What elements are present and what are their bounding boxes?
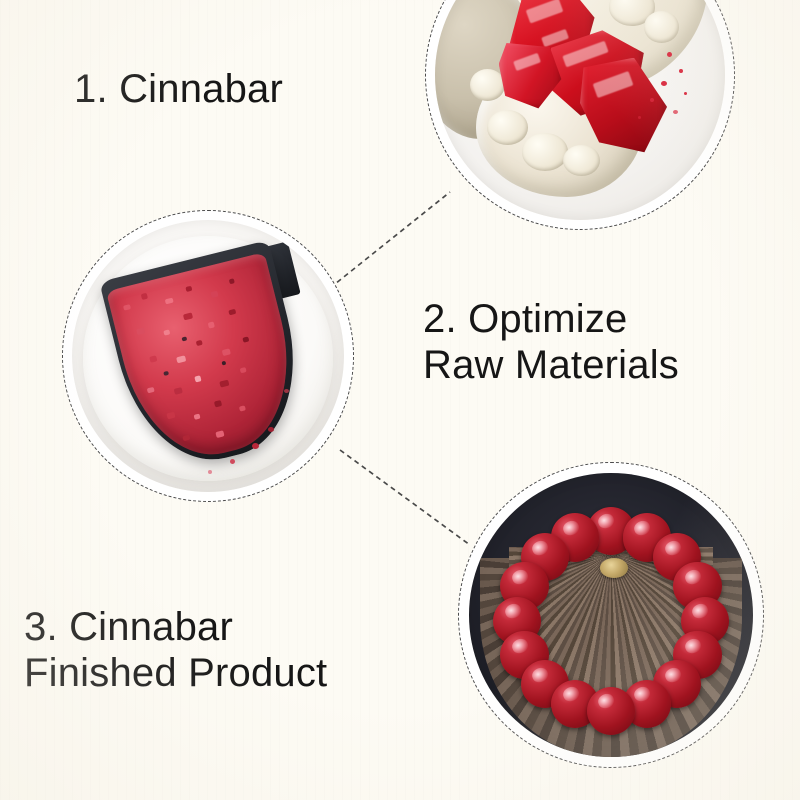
step-2-label: 2. Optimize Raw Materials xyxy=(423,296,679,389)
cinnabar-powder-scoop-photo xyxy=(72,220,344,492)
step-1-label: 1. Cinnabar xyxy=(74,66,283,112)
cinnabar-mineral-photo xyxy=(435,0,725,220)
bracelet-bead xyxy=(587,687,635,735)
cinnabar-bead-bracelet-photo xyxy=(469,473,753,757)
connector-scoop-to-beads xyxy=(340,450,470,545)
connector-scoop-to-mineral xyxy=(330,192,450,288)
step-3-label: 3. Cinnabar Finished Product xyxy=(24,604,327,697)
step-3-image-circle[interactable] xyxy=(458,462,764,768)
step-1-image-circle[interactable] xyxy=(425,0,735,230)
step-2-image-circle[interactable] xyxy=(62,210,354,502)
infographic-canvas: 1. Cinnabar 2. Optimize Raw Materials 3.… xyxy=(0,0,800,800)
